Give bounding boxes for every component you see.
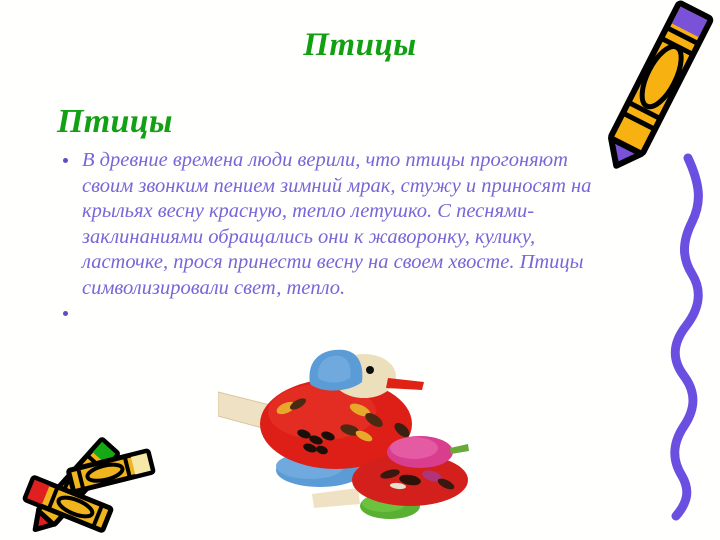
bullet-item: В древние времена люди верили, что птицы… [58, 148, 603, 302]
purple-squiggle-line [630, 150, 720, 525]
bird-eye [366, 366, 374, 374]
crayons-bottom-left-icon [8, 428, 163, 536]
bullet-item-empty [58, 302, 603, 327]
bird-toy-svg [218, 348, 480, 540]
bullet-list: В древние времена люди верили, что птицы… [58, 148, 603, 327]
body-heading: Птицы [57, 103, 173, 141]
presentation-slide: Птицы Птицы В древние времена люди верил… [0, 0, 720, 540]
squiggle-svg [630, 150, 720, 525]
bird-small-stub-green [450, 444, 469, 454]
wooden-bird-whistle-photo [218, 348, 480, 540]
squiggle-path [675, 158, 699, 516]
whistle-tube-small [312, 488, 360, 508]
bird-small-crest-highlight [390, 437, 438, 459]
bird-beak-red [386, 378, 424, 390]
crayons-svg [8, 428, 163, 536]
